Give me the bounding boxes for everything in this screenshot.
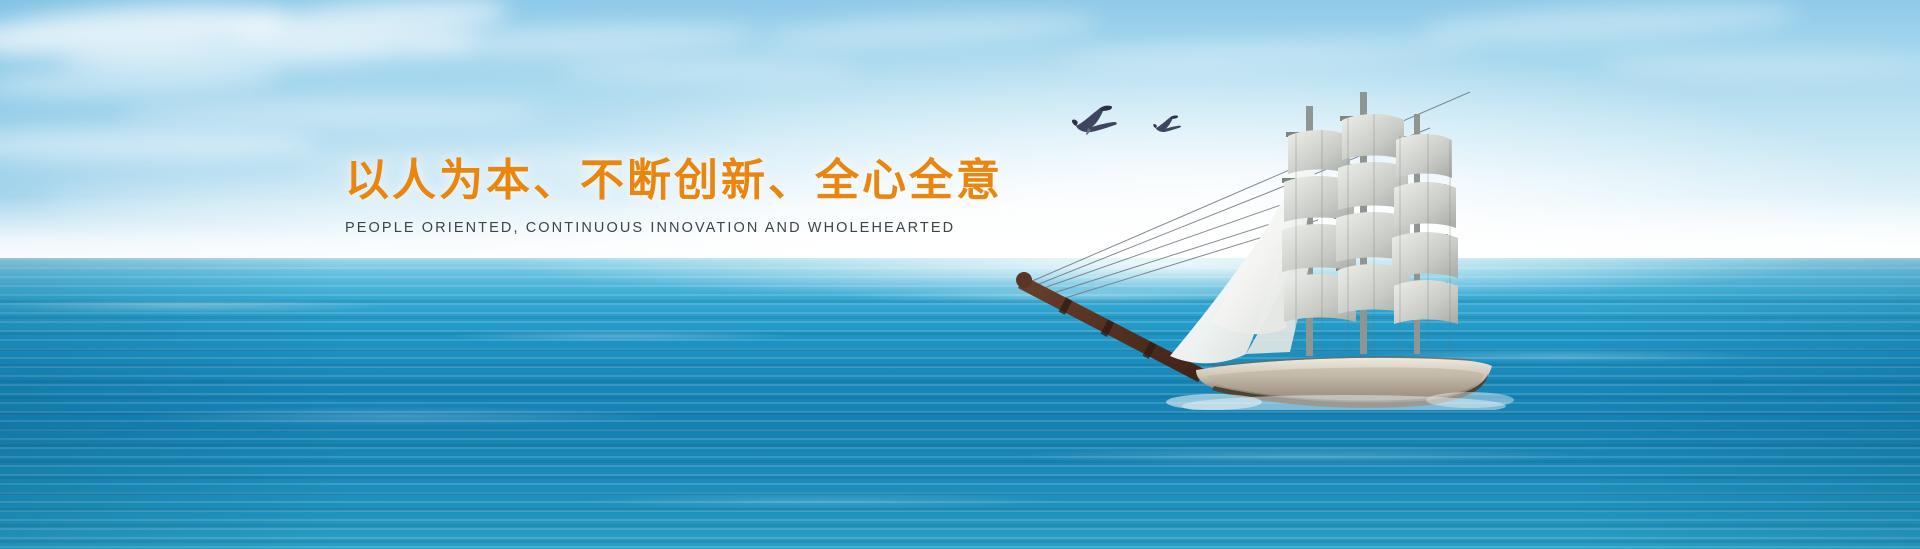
hero-banner: 以人为本、不断创新、全心全意 PEOPLE ORIENTED, CONTINUO… — [0, 0, 1920, 549]
banner-headline: 以人为本、不断创新、全心全意 — [345, 155, 945, 207]
cloud-wisp — [560, 58, 860, 82]
sea-vignette — [0, 258, 1920, 549]
sailing-ship-illustration — [1000, 70, 1520, 410]
banner-text-block: 以人为本、不断创新、全心全意 PEOPLE ORIENTED, CONTINUO… — [345, 155, 945, 236]
banner-subheadline: PEOPLE ORIENTED, CONTINUOUS INNOVATION A… — [345, 220, 945, 236]
cloud-wisp — [1600, 52, 1920, 78]
cloud-wisp — [120, 100, 540, 126]
